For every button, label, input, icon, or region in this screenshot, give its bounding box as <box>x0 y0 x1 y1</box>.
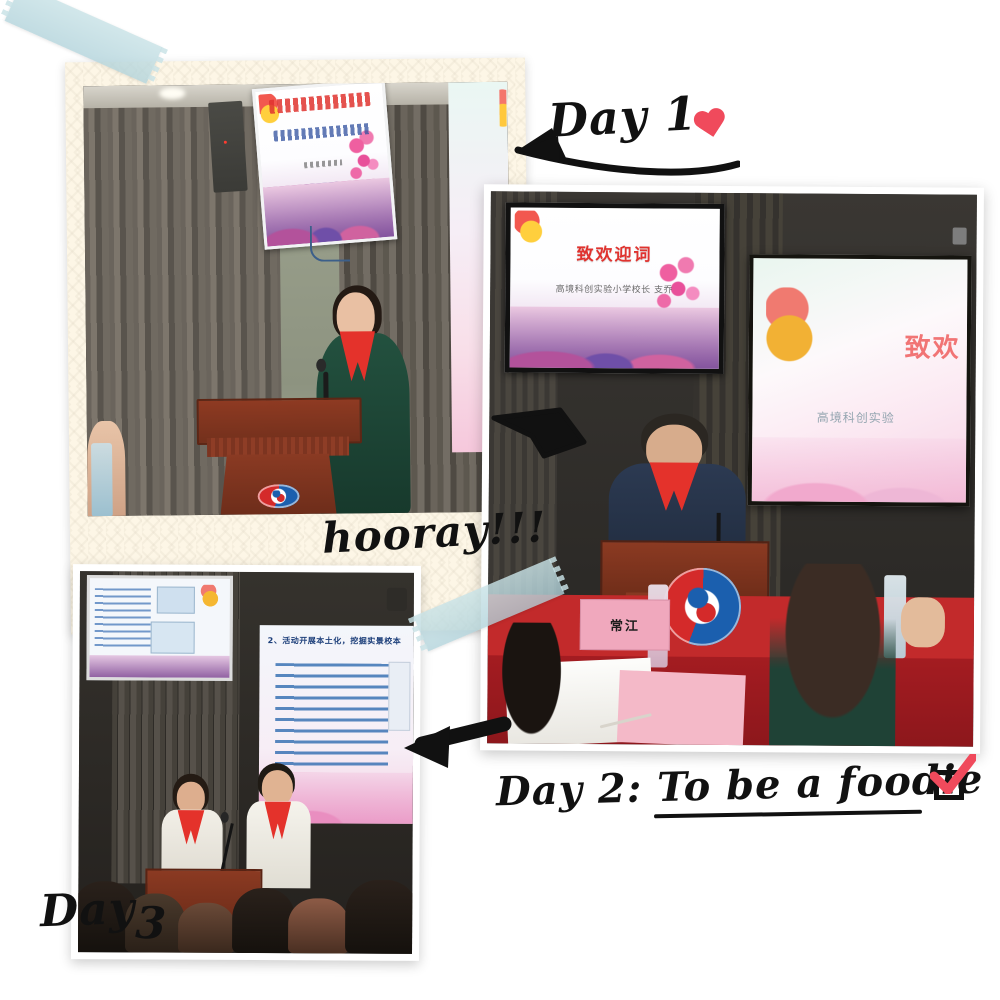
nameplate: 常江 <box>580 598 670 650</box>
pink-document <box>617 670 746 746</box>
audience-head <box>232 888 296 954</box>
annotation-day3: Day3 <box>39 882 168 937</box>
screen-subtitle: 高境科创实验 <box>817 409 895 427</box>
slide-subtitle: 高境科创实验小学校长 支乔 <box>510 281 719 295</box>
nameplate-text: 常江 <box>610 615 640 634</box>
wall-tv: 致欢迎词 高境科创实验小学校长 支乔 <box>504 202 724 374</box>
annotation-day2-underline <box>654 810 922 819</box>
projector <box>387 588 407 611</box>
torch-star-icon <box>199 584 222 608</box>
screen-heading: 2、活动开展本土化，挖掘实景校本 <box>268 635 408 654</box>
audience-head <box>178 902 235 953</box>
podium <box>197 397 359 515</box>
arrow-to-photo3 <box>392 700 512 780</box>
audience-head <box>288 898 348 954</box>
tv-cable <box>309 225 350 262</box>
screen-body-text <box>275 663 389 767</box>
wall-emblem-icon <box>663 568 741 646</box>
annotation-day1: Day 1 <box>547 86 699 148</box>
microphone-head <box>221 812 229 823</box>
speaker-box <box>208 101 248 193</box>
school-emblem-icon <box>257 484 299 509</box>
tv-slide-image-1 <box>157 586 196 614</box>
audience-hand <box>901 597 945 647</box>
tv-city-silhouette <box>89 655 229 678</box>
arrow-photo1-to-photo2 <box>488 396 598 476</box>
torch-star-icon <box>766 287 814 370</box>
wall-tv <box>252 82 398 250</box>
audience-head-foreground <box>769 563 897 746</box>
annotation-day3-number: 3 <box>135 898 168 950</box>
audience-head <box>345 880 414 954</box>
podium-base <box>220 453 337 515</box>
slide-city-silhouette <box>509 307 718 369</box>
projection-screen: 致欢 高境科创实验 <box>748 254 972 506</box>
slide-title: 致欢迎词 <box>510 239 719 265</box>
tv-slide-image-2 <box>151 622 195 654</box>
water-bottle <box>91 443 113 516</box>
head <box>262 770 293 805</box>
screen-city-silhouette <box>752 438 966 503</box>
checkmark-icon <box>930 754 976 794</box>
tv-slide-text <box>95 588 151 650</box>
projector-mount <box>952 228 967 245</box>
annotation-day2: Day 2: To be a foodie <box>495 756 984 816</box>
speaker-led-icon <box>224 141 227 144</box>
screen-title: 致欢 <box>904 327 960 364</box>
wall-tv <box>86 575 233 681</box>
scrapbook-page: 20 <box>0 0 1000 1000</box>
head <box>176 782 204 814</box>
microphone-head <box>316 359 326 372</box>
annotation-day3-word: Day <box>39 883 136 937</box>
